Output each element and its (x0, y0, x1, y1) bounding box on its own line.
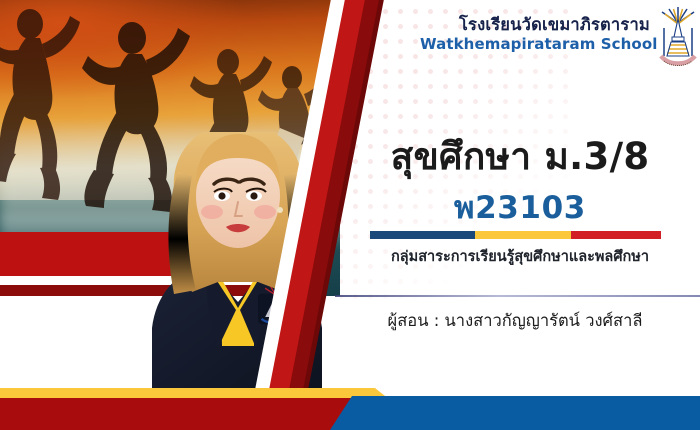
teacher-name: ผู้สอน : นางสาวกัญญารัตน์ วงศ์สาลี (345, 310, 685, 331)
tricolor-red-segment (571, 231, 661, 239)
school-emblem-icon (657, 6, 699, 72)
tricolor-blue-segment (370, 231, 475, 239)
bottom-decoration-bars (0, 380, 700, 430)
school-name-thai: โรงเรียนวัดเขมาภิรตาราม (420, 14, 650, 35)
slide-canvas: โรงเรียนวัดเขมาภิรตาราม Watkhemapiratara… (0, 0, 700, 430)
school-header: โรงเรียนวัดเขมาภิรตาราม Watkhemapiratara… (420, 14, 650, 55)
department-name: กลุ่มสาระการเรียนรู้สุขศึกษาและพลศึกษา (345, 248, 695, 267)
tricolor-yellow-segment (475, 231, 571, 239)
course-code: พ23103 (345, 192, 695, 225)
horizontal-rule (335, 295, 700, 297)
school-name-english: Watkhemapirataram School (420, 35, 650, 55)
course-title: สุขศึกษา ม.3/8 (345, 137, 695, 177)
bottom-blue-bar (330, 396, 700, 430)
tricolor-divider (370, 231, 661, 239)
